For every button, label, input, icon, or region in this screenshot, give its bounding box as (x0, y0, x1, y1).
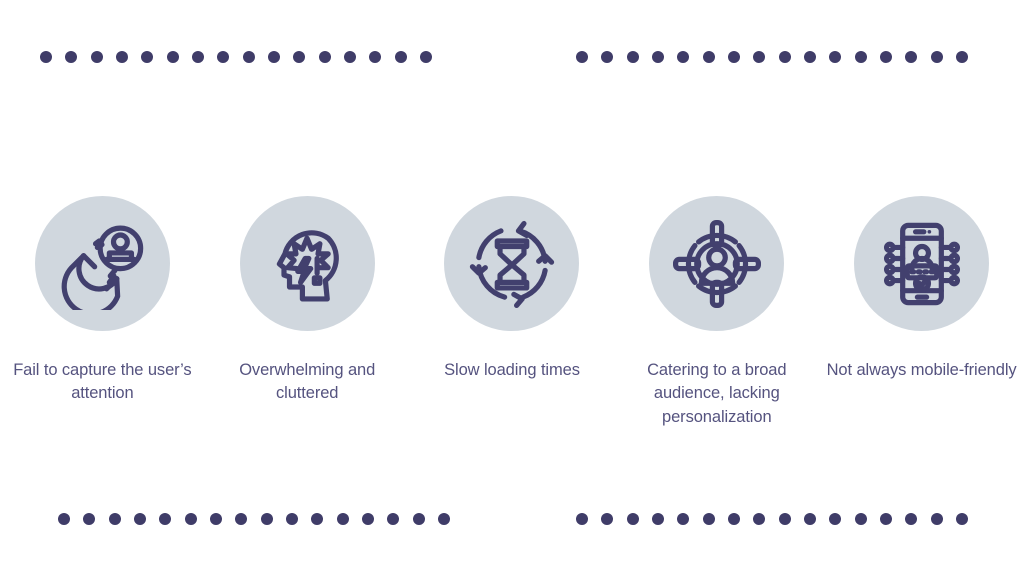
decorative-dot (387, 513, 399, 525)
decorative-dot (829, 51, 841, 63)
card-row: Fail to capture the user’s attention Ove… (0, 196, 1024, 429)
decorative-dot (627, 513, 639, 525)
decorative-dot (880, 51, 892, 63)
decorative-dot (362, 513, 374, 525)
decorative-dot (185, 513, 197, 525)
card-label: Fail to capture the user’s attention (2, 359, 202, 406)
target-audience-icon (671, 218, 763, 310)
decorative-dot (677, 51, 689, 63)
icon-circle (649, 196, 784, 331)
dot-row-bottom-left (58, 513, 450, 525)
decorative-dot (91, 51, 103, 63)
decorative-dot (210, 513, 222, 525)
decorative-dot (728, 51, 740, 63)
decorative-dot (677, 513, 689, 525)
card-broad-audience-personalization[interactable]: Catering to a broad audience, lacking pe… (614, 196, 819, 429)
decorative-dot (261, 513, 273, 525)
decorative-dot (286, 513, 298, 525)
decorative-dot (855, 513, 867, 525)
decorative-dot (40, 51, 52, 63)
decorative-dot (753, 51, 765, 63)
decorative-dot (167, 51, 179, 63)
decorative-dot (268, 51, 280, 63)
decorative-dot (58, 513, 70, 525)
decorative-dot (116, 51, 128, 63)
decorative-dot (243, 51, 255, 63)
overwhelmed-head-icon (261, 218, 353, 310)
decorative-dot (413, 513, 425, 525)
card-slow-loading-times[interactable]: Slow loading times (410, 196, 615, 382)
decorative-dot (703, 513, 715, 525)
icon-circle (35, 196, 170, 331)
card-label: Not always mobile-friendly (822, 359, 1022, 382)
decorative-dot (779, 51, 791, 63)
decorative-dot (855, 51, 867, 63)
decorative-dot (652, 513, 664, 525)
icon-circle (240, 196, 375, 331)
decorative-dot (627, 51, 639, 63)
decorative-dot (804, 51, 816, 63)
decorative-dot (931, 513, 943, 525)
decorative-dot (956, 513, 968, 525)
card-overwhelming-cluttered[interactable]: Overwhelming and cluttered (205, 196, 410, 406)
dot-row-top-left (40, 51, 432, 63)
decorative-dot (438, 513, 450, 525)
icon-circle (854, 196, 989, 331)
decorative-dot (576, 51, 588, 63)
decorative-dot (83, 513, 95, 525)
hourglass-loading-icon (466, 218, 558, 310)
decorative-dot (134, 513, 146, 525)
decorative-dot (728, 513, 740, 525)
decorative-dot (420, 51, 432, 63)
decorative-dot (931, 51, 943, 63)
card-label: Slow loading times (412, 359, 612, 382)
decorative-dot (905, 513, 917, 525)
decorative-dot (576, 513, 588, 525)
decorative-dot (159, 513, 171, 525)
decorative-dot (652, 51, 664, 63)
decorative-dot (395, 51, 407, 63)
decorative-dot (319, 51, 331, 63)
magnet-attract-user-icon (56, 218, 148, 310)
decorative-dot (956, 51, 968, 63)
decorative-dot (311, 513, 323, 525)
card-label: Catering to a broad audience, lacking pe… (617, 359, 817, 429)
decorative-dot (344, 51, 356, 63)
decorative-dot (779, 513, 791, 525)
decorative-dot (905, 51, 917, 63)
decorative-dot (293, 51, 305, 63)
decorative-dot (337, 513, 349, 525)
decorative-dot (829, 513, 841, 525)
dot-row-top-right (576, 51, 968, 63)
decorative-dot (65, 51, 77, 63)
decorative-dot (141, 51, 153, 63)
card-label: Overwhelming and cluttered (207, 359, 407, 406)
decorative-dot (880, 513, 892, 525)
decorative-dot (753, 513, 765, 525)
decorative-dot (601, 51, 613, 63)
decorative-dot (192, 51, 204, 63)
decorative-dot (804, 513, 816, 525)
slide-canvas: Fail to capture the user’s attention Ove… (0, 0, 1024, 585)
decorative-dot (369, 51, 381, 63)
card-fail-to-capture-attention[interactable]: Fail to capture the user’s attention (0, 196, 205, 406)
dot-row-bottom-right (576, 513, 968, 525)
mobile-login-icon (876, 218, 968, 310)
decorative-dot (235, 513, 247, 525)
decorative-dot (109, 513, 121, 525)
card-not-mobile-friendly[interactable]: Not always mobile-friendly (819, 196, 1024, 382)
decorative-dot (217, 51, 229, 63)
icon-circle (444, 196, 579, 331)
decorative-dot (601, 513, 613, 525)
decorative-dot (703, 51, 715, 63)
